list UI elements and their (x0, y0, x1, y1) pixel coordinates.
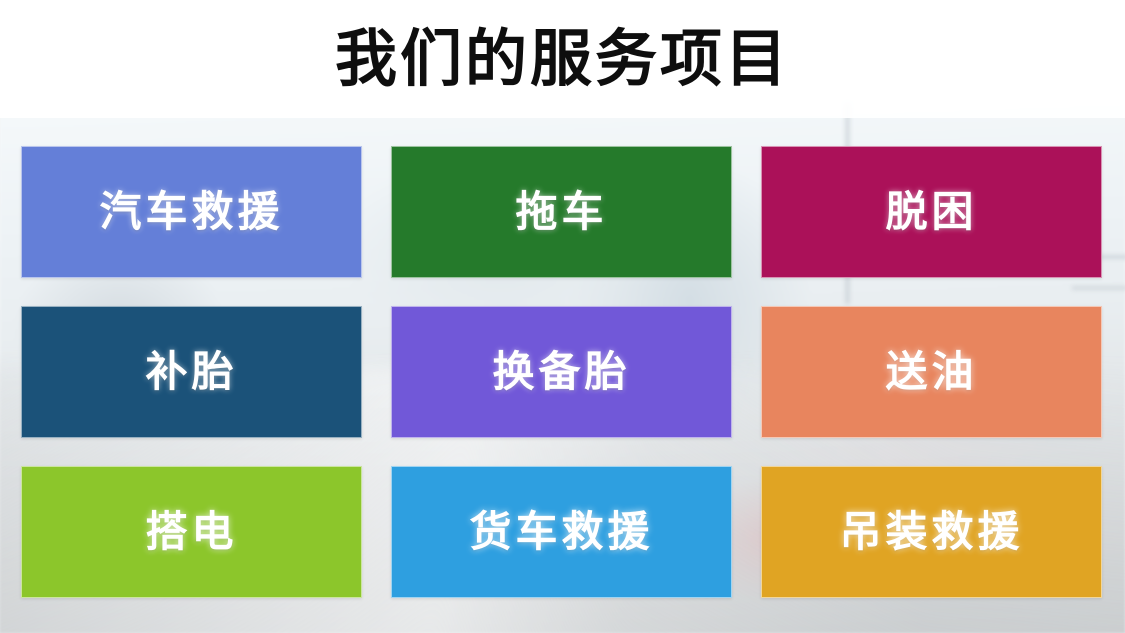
service-tile-label: 吊装救援 (839, 511, 1023, 553)
service-tile-label: 搭电 (145, 511, 237, 553)
service-grid: 汽车救援拖车脱困补胎换备胎送油搭电货车救援吊装救援 (21, 146, 1102, 598)
service-tile-towing[interactable]: 拖车 (391, 146, 732, 278)
page-title: 我们的服务项目 (335, 28, 790, 90)
service-tile-label: 货车救援 (469, 511, 653, 553)
service-tile-label: 汽车救援 (99, 191, 283, 233)
service-tile-label: 脱困 (885, 191, 977, 233)
service-tile-roadside-assistance[interactable]: 汽车救援 (21, 146, 362, 278)
service-poster: 我们的服务项目 汽车救援拖车脱困补胎换备胎送油搭电货车救援吊装救援 (0, 0, 1125, 633)
service-tile-truck-assistance[interactable]: 货车救援 (391, 466, 732, 598)
service-tile-label: 拖车 (515, 191, 607, 233)
service-tile-label: 送油 (885, 351, 977, 393)
service-tile-label: 换备胎 (492, 351, 630, 393)
service-tile-jump-start[interactable]: 搭电 (21, 466, 362, 598)
service-tile-spare-tire-change[interactable]: 换备胎 (391, 306, 732, 438)
service-tile-extrication[interactable]: 脱困 (761, 146, 1102, 278)
title-bar: 我们的服务项目 (0, 0, 1125, 118)
service-tile-fuel-delivery[interactable]: 送油 (761, 306, 1102, 438)
service-tile-tire-repair[interactable]: 补胎 (21, 306, 362, 438)
service-tile-crane-lifting-rescue[interactable]: 吊装救援 (761, 466, 1102, 598)
service-tile-label: 补胎 (145, 351, 237, 393)
